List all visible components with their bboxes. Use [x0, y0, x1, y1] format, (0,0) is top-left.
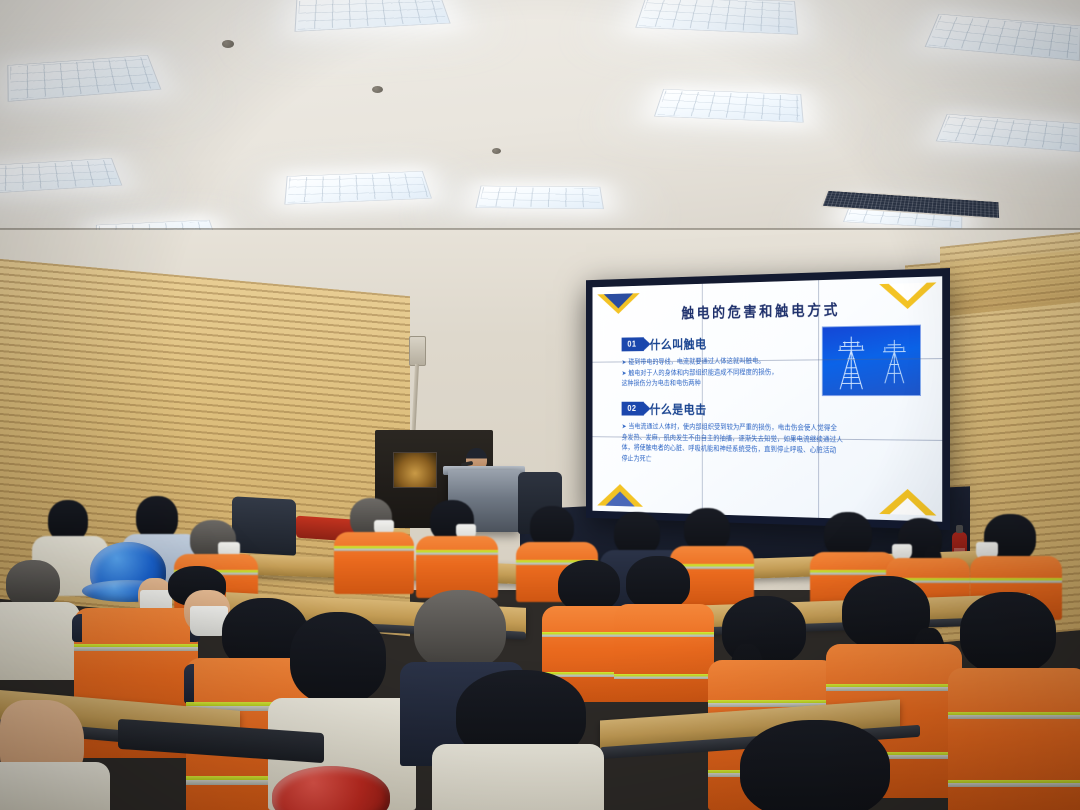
videowall-seam [702, 284, 703, 514]
safety-vest [334, 532, 414, 594]
person-head [960, 592, 1056, 674]
reflective-stripe [74, 644, 198, 651]
ceiling-light-panel [475, 186, 604, 209]
reflective-stripe [948, 780, 1080, 787]
smoke-detector [372, 86, 383, 93]
reflective-stripe [334, 546, 414, 551]
section-01-number-badge: 01 [622, 337, 644, 351]
chevron-bottom-left-blue-icon [605, 491, 634, 506]
reflective-stripe [614, 632, 714, 637]
person-head [414, 590, 506, 670]
reflective-stripe [948, 712, 1080, 719]
person-head [740, 720, 890, 810]
reflective-stripe [416, 550, 498, 555]
chevron-bottom-right-white-icon [890, 497, 926, 515]
ceiling-light-panel [654, 89, 804, 123]
av-cabinet-screen [393, 452, 437, 488]
ceiling-light-panel [635, 0, 798, 35]
reflective-stripe [970, 578, 1062, 583]
ceiling-light-panel [925, 14, 1080, 61]
person-collar [432, 744, 604, 810]
person-shirt [0, 602, 80, 680]
section-01-heading: 什么叫触电 [650, 334, 707, 353]
ceiling-light-panel [7, 55, 161, 102]
person-head [6, 560, 60, 608]
reflective-stripe [826, 684, 962, 691]
ceiling-light-panel [936, 114, 1080, 152]
slide-section-02: 02 什么是电击 ➤ 当电流通过人体时，使内部组织受到较为严重的损伤，电击伤会使… [622, 400, 919, 470]
smoke-detector [222, 40, 234, 48]
person-sleeve [0, 762, 110, 810]
reflective-stripe [810, 570, 896, 575]
wall-speaker [409, 336, 426, 366]
videowall-seam [818, 280, 819, 518]
ceiling-light-panel [0, 158, 122, 194]
section-02-header: 02 什么是电击 [622, 400, 919, 419]
stage-chair-left [232, 496, 296, 555]
lecture-hall-photo: 触电的危害和触电方式 01 什么叫触电 ➤ 碰到带电的导线，电流就要通过人体这就… [0, 0, 1080, 810]
safety-vest [948, 668, 1080, 810]
transmission-tower-icon [880, 338, 908, 386]
section-02-body: ➤ 当电流通过人体时，使内部组织受到较为严重的损伤，电击伤会使人觉得全 身发热、… [622, 422, 919, 469]
ceiling-light-panel [295, 0, 451, 32]
slide-title: 触电的危害和触电方式 [592, 296, 942, 324]
video-wall-display[interactable]: 触电的危害和触电方式 01 什么叫触电 ➤ 碰到带电的导线，电流就要通过人体这就… [586, 268, 950, 530]
safety-vest [416, 536, 498, 598]
presentation-slide: 触电的危害和触电方式 01 什么叫触电 ➤ 碰到带电的导线，电流就要通过人体这就… [592, 276, 942, 522]
ceiling-light-panel [284, 171, 432, 205]
section-02-number-badge: 02 [622, 402, 644, 416]
person-head [290, 612, 386, 704]
vest-shoulder [72, 614, 82, 642]
vest-shoulder [184, 664, 194, 704]
section-02-heading: 什么是电击 [650, 400, 707, 418]
person-head [626, 556, 690, 610]
person-head [558, 560, 620, 612]
transmission-tower-icon [836, 334, 867, 391]
safety-vest [614, 604, 714, 702]
smoke-detector [492, 148, 501, 154]
reflective-stripe [614, 674, 714, 679]
